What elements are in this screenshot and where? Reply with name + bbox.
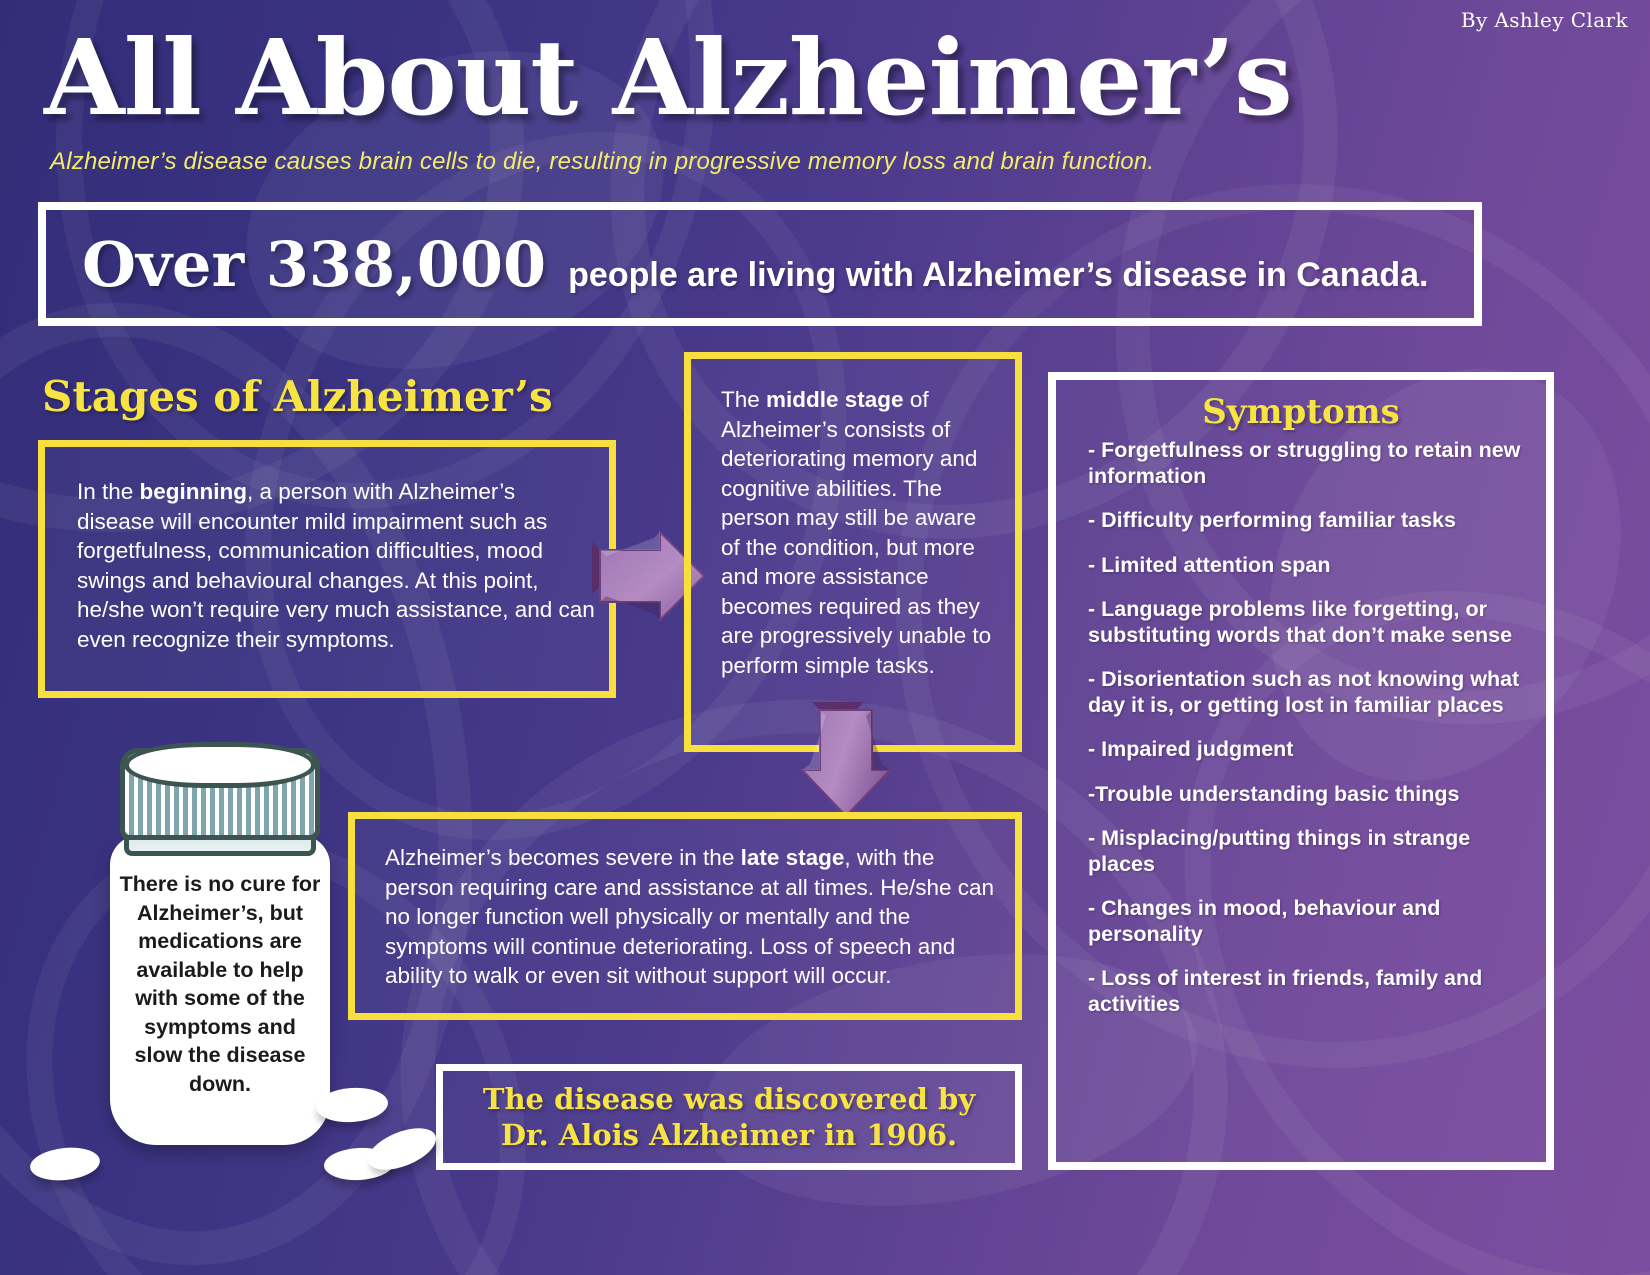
list-item: - Loss of interest in friends, family an… [1088,966,1536,1017]
list-item: - Difficulty performing familiar tasks [1088,508,1536,534]
discovery-box: The disease was discovered by Dr. Alois … [436,1064,1022,1170]
byline: By Ashley Clark [1461,8,1628,32]
list-item: - Limited attention span [1088,553,1536,579]
stage-late-keyword: late stage [741,845,845,870]
bottle-cap-top [124,742,316,788]
stage-box-late: Alzheimer’s becomes severe in the late s… [348,812,1022,1020]
pill-bottle-illustration: There is no cure for Alzheimer’s, but me… [72,730,372,1150]
discovery-line-1: The disease was discovered by [483,1081,975,1117]
stage-box-middle: The middle stage of Alzheimer’s consists… [684,352,1022,752]
stage-early-text: In the beginning, a person with Alzheime… [45,447,609,654]
discovery-text: The disease was discovered by Dr. Alois … [483,1081,975,1153]
statistic-headline: Over 338,000 [82,228,546,301]
stage-middle-text: The middle stage of Alzheimer’s consists… [691,359,1015,680]
list-item: - Impaired judgment [1088,737,1536,763]
statistic-description: people are living with Alzheimer’s disea… [568,256,1428,295]
symptoms-title: Symptoms [1056,392,1546,432]
symptoms-panel: Symptoms - Forgetfulness or struggling t… [1048,372,1554,1170]
stage-middle-keyword: middle stage [766,387,904,412]
stage-middle-pre: The [721,387,766,412]
stage-middle-post: of Alzheimer’s consists of deteriorating… [721,387,991,678]
stage-early-post: , a person with Alzheimer’s disease will… [77,479,595,652]
infographic-poster: By Ashley Clark All About Alzheimer’s Al… [0,0,1650,1275]
list-item: - Misplacing/putting things in strange p… [1088,826,1536,877]
stage-late-pre: Alzheimer’s becomes severe in the [385,845,741,870]
pill-icon [29,1144,102,1183]
list-item: - Language problems like forgetting, or … [1088,597,1536,648]
page-subtitle: Alzheimer’s disease causes brain cells t… [50,148,1154,176]
stages-heading: Stages of Alzheimer’s [42,372,553,421]
list-item: - Changes in mood, behaviour and persona… [1088,896,1536,947]
stage-box-early: In the beginning, a person with Alzheime… [38,440,616,698]
bottle-label-text: There is no cure for Alzheimer’s, but me… [118,870,322,1098]
statistic-banner: Over 338,000 people are living with Alzh… [38,202,1482,326]
arrow-down-icon [790,700,910,830]
symptoms-list: - Forgetfulness or struggling to retain … [1056,438,1546,1017]
page-title: All About Alzheimer’s [44,26,1292,130]
list-item: - Disorientation such as not knowing wha… [1088,667,1536,718]
stage-early-keyword: beginning [140,479,247,504]
stage-early-pre: In the [77,479,140,504]
list-item: -Trouble understanding basic things [1088,782,1536,808]
discovery-line-2: Dr. Alois Alzheimer in 1906. [483,1117,975,1153]
list-item: - Forgetfulness or struggling to retain … [1088,438,1536,489]
stage-late-text: Alzheimer’s becomes severe in the late s… [355,819,1015,991]
